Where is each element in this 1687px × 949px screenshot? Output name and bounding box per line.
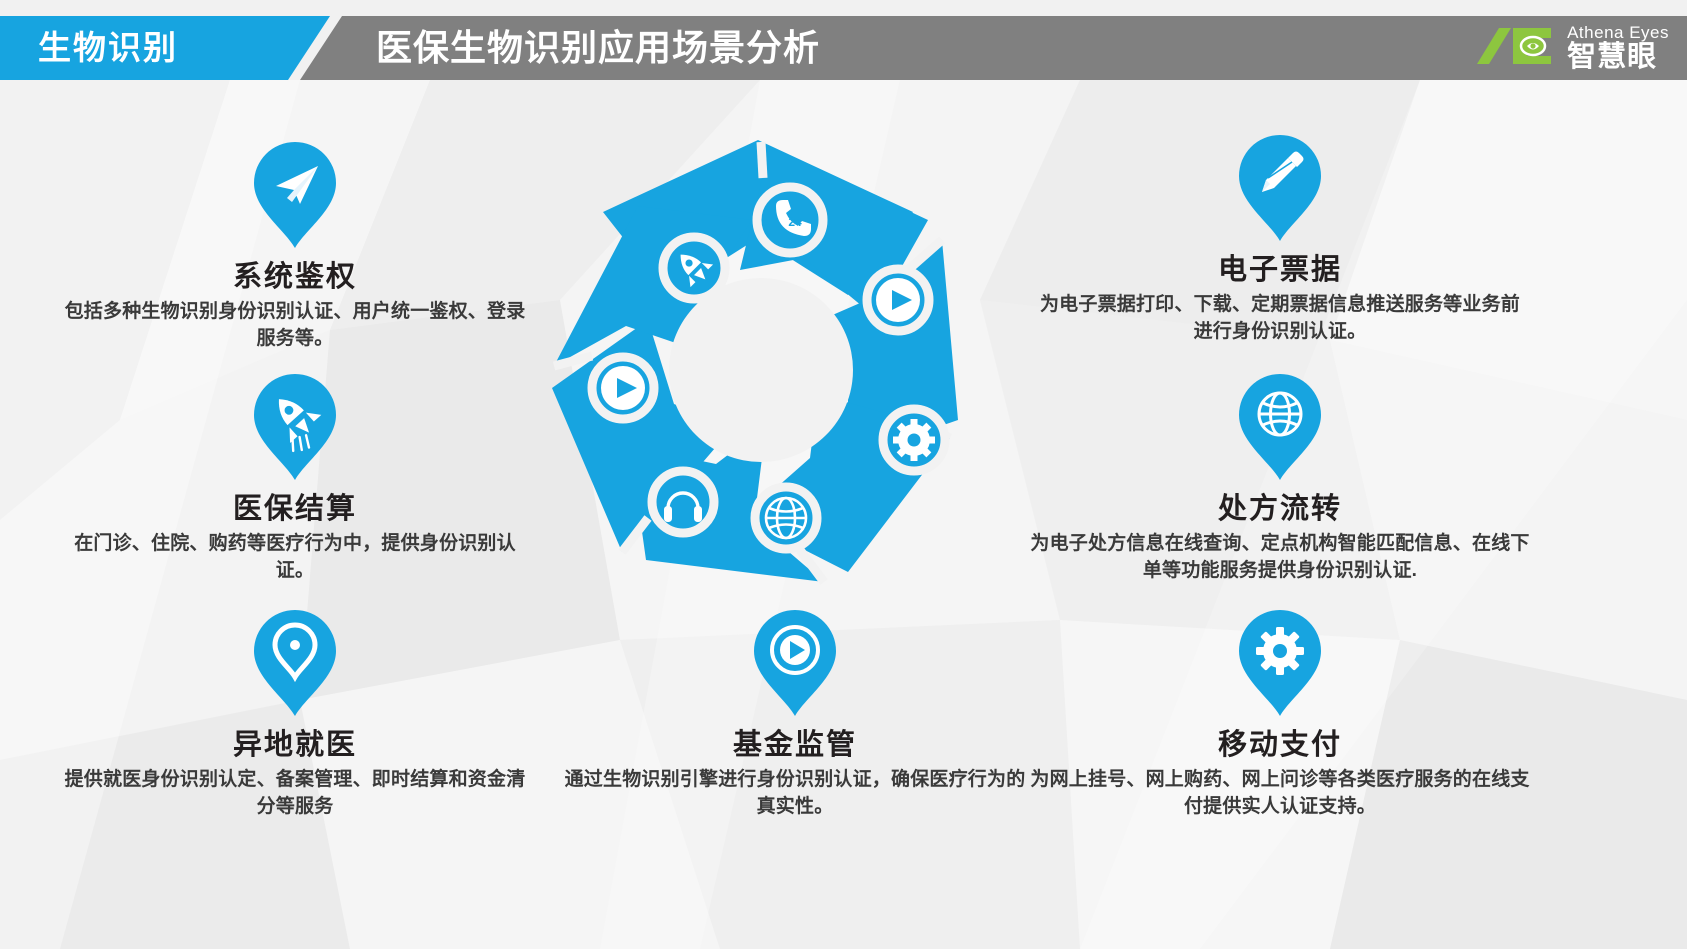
logo-cn-text: 智慧眼 <box>1567 43 1669 72</box>
feature-mobile-payment: 移动支付 为网上挂号、网上购药、网上问诊等各类医疗服务的在线支付提供实人认证支持… <box>1030 608 1530 820</box>
svg-text:24: 24 <box>788 215 802 229</box>
feature-description: 为电子票据打印、下载、定期票据信息推送服务等业务前进行身份识别认证。 <box>1035 291 1525 345</box>
feature-title: 基金监管 <box>560 727 1030 763</box>
feature-description: 包括多种生物识别身份识别认证、用户统一鉴权、登录服务等。 <box>60 298 530 352</box>
play-circle-icon <box>560 608 1030 723</box>
play-circle-badge-left <box>592 357 654 419</box>
feature-fund-supervision: 基金监管 通过生物识别引擎进行身份识别认证，确保医疗行为的真实性。 <box>560 608 1030 820</box>
feature-electronic-bill: 电子票据 为电子票据打印、下载、定期票据信息推送服务等业务前进行身份识别认证。 <box>1035 133 1525 345</box>
rocket-icon <box>60 372 530 487</box>
logo-wordmark: Athena Eyes 智慧眼 <box>1567 24 1669 72</box>
play-circle-badge-right <box>867 269 929 331</box>
feature-system-authorization: 系统鉴权 包括多种生物识别身份识别认证、用户统一鉴权、登录服务等。 <box>60 140 530 352</box>
feature-prescription-circulation: 处方流转 为电子处方信息在线查询、定点机构智能匹配信息、在线下单等功能服务提供身… <box>1030 372 1530 584</box>
ae-monogram-icon <box>1473 24 1559 73</box>
feature-title: 系统鉴权 <box>60 259 530 295</box>
phone-24h-badge: 24 <box>757 187 823 253</box>
globe-badge <box>755 487 817 549</box>
feature-title: 医保结算 <box>60 491 530 527</box>
feature-title: 处方流转 <box>1030 491 1530 527</box>
feature-description: 提供就医身份识别认定、备案管理、即时结算和资金清分等服务 <box>60 766 530 820</box>
gear-badge <box>883 409 945 471</box>
brand-logo: Athena Eyes 智慧眼 <box>1473 20 1669 76</box>
pencil-icon <box>1035 133 1525 248</box>
feature-medical-insurance-settlement: 医保结算 在门诊、住院、购药等医疗行为中，提供身份识别认证。 <box>60 372 530 584</box>
globe-icon <box>1030 372 1530 487</box>
header-tag-label: 生物识别 <box>38 27 178 69</box>
headphones-badge <box>652 471 714 533</box>
logo-en-text: Athena Eyes <box>1567 24 1669 41</box>
feature-title: 电子票据 <box>1035 252 1525 288</box>
rocket-badge <box>663 237 725 299</box>
page-title: 医保生物识别应用场景分析 <box>376 25 820 71</box>
feature-description: 在门诊、住院、购药等医疗行为中，提供身份识别认证。 <box>60 530 530 584</box>
feature-description: 通过生物识别引擎进行身份识别认证，确保医疗行为的真实性。 <box>560 766 1030 820</box>
feature-description: 为电子处方信息在线查询、定点机构智能匹配信息、在线下单等功能服务提供身份识别认证… <box>1030 530 1530 584</box>
feature-remote-medical-treatment: 异地就医 提供就医身份识别认定、备案管理、即时结算和资金清分等服务 <box>60 608 530 820</box>
slide-header: 生物识别 医保生物识别应用场景分析 Athena Eyes 智慧眼 <box>0 16 1687 80</box>
feature-description: 为网上挂号、网上购药、网上问诊等各类医疗服务的在线支付提供实人认证支持。 <box>1030 766 1530 820</box>
hexagonal-pinwheel-diagram: 24 <box>518 120 998 590</box>
paper-plane-icon <box>60 140 530 255</box>
feature-title: 移动支付 <box>1030 727 1530 763</box>
gear-icon <box>1030 608 1530 723</box>
slide-canvas: 生物识别 医保生物识别应用场景分析 Athena Eyes 智慧眼 <box>0 0 1687 949</box>
map-pin-icon <box>60 608 530 723</box>
feature-title: 异地就医 <box>60 727 530 763</box>
